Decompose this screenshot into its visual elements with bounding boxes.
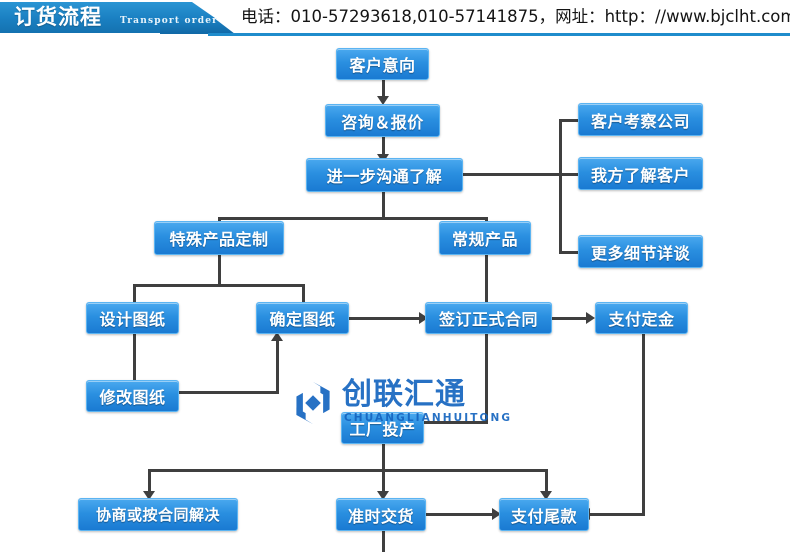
connector-delivery-to-balance <box>425 513 498 516</box>
connector-bus-to-confirm-drawing <box>302 284 305 303</box>
node-pay-balance[interactable]: 支付尾款 <box>499 498 589 531</box>
connector-communication-down <box>382 191 385 220</box>
watermark-company-en: CHUANGLIANHUITONG <box>344 412 512 425</box>
connector-bus-to-balance <box>545 469 548 492</box>
connector-delivery-down <box>382 530 385 552</box>
connector-contract-down <box>485 334 488 424</box>
connector-confirm-to-contract <box>349 317 425 320</box>
connector-split-bus <box>218 217 488 220</box>
connector-communication-to-right-bus <box>463 173 562 176</box>
connector-factory-down <box>382 444 385 472</box>
order-flow-page: 订货流程 Transport order 电话：010-57293618,010… <box>0 0 790 552</box>
connector-design-to-modify <box>133 334 136 381</box>
connector-standard-product-to-contract <box>485 255 488 304</box>
node-more-details[interactable]: 更多细节详谈 <box>578 235 703 268</box>
connector-right-bus-to-more-details <box>559 251 580 254</box>
connector-bus-to-design-drawing <box>133 284 136 303</box>
node-confirm-drawing[interactable]: 确定图纸 <box>256 302 349 334</box>
header-divider <box>208 33 790 36</box>
connector-deposit-to-balance-h <box>588 513 645 516</box>
connector-right-bus-vertical <box>559 119 562 253</box>
connector-modify-to-confirm-v <box>276 340 279 393</box>
node-inquiry-quote[interactable]: 咨询＆报价 <box>325 104 440 137</box>
swirl-hexagon-logo-icon <box>290 380 336 426</box>
page-subtitle-en: Transport order <box>120 14 218 28</box>
watermark-company-cn: 创联汇通 <box>342 377 466 413</box>
connector-modify-to-confirm-h <box>173 391 279 394</box>
connector-intent-to-quote <box>382 79 385 97</box>
flowchart-canvas: 客户意向 咨询＆报价 进一步沟通了解 客户考察公司 我方了解客户 更多细节详谈 … <box>0 40 790 552</box>
node-customer-visits[interactable]: 客户考察公司 <box>578 103 703 136</box>
connector-quote-to-communication <box>382 136 385 155</box>
connector-right-bus-to-we-know-customer <box>559 173 580 176</box>
header-contact-info: 电话：010-57293618,010-57141875，网址：http：//w… <box>241 5 790 29</box>
node-standard-product[interactable]: 常规产品 <box>439 221 531 255</box>
node-pay-deposit[interactable]: 支付定金 <box>595 302 688 334</box>
node-sign-contract[interactable]: 签订正式合同 <box>425 302 552 334</box>
connector-deposit-down <box>642 334 645 516</box>
watermark-logo: 创联汇通 CHUANGLIANHUITONG <box>290 378 480 430</box>
connector-custom-product-down <box>218 255 221 287</box>
connector-bus-to-delivery <box>382 469 385 492</box>
connector-bus-to-negotiate <box>148 469 151 492</box>
connector-right-bus-to-customer-visits <box>559 119 580 122</box>
connector-factory-bus <box>148 469 548 472</box>
node-we-know-customer[interactable]: 我方了解客户 <box>578 157 703 190</box>
node-on-time-delivery[interactable]: 准时交货 <box>336 498 426 531</box>
node-customer-intent[interactable]: 客户意向 <box>336 48 429 80</box>
node-custom-product[interactable]: 特殊产品定制 <box>154 221 284 255</box>
node-negotiate-or-contract[interactable]: 协商或按合同解决 <box>78 498 238 531</box>
node-modify-drawing[interactable]: 修改图纸 <box>86 380 179 412</box>
node-design-drawing[interactable]: 设计图纸 <box>86 302 179 334</box>
arrowhead-contract-to-deposit <box>586 312 595 324</box>
node-further-communication[interactable]: 进一步沟通了解 <box>306 158 463 192</box>
page-header: 订货流程 Transport order 电话：010-57293618,010… <box>0 0 790 40</box>
page-title: 订货流程 <box>14 3 102 31</box>
connector-custom-product-bus <box>133 284 305 287</box>
